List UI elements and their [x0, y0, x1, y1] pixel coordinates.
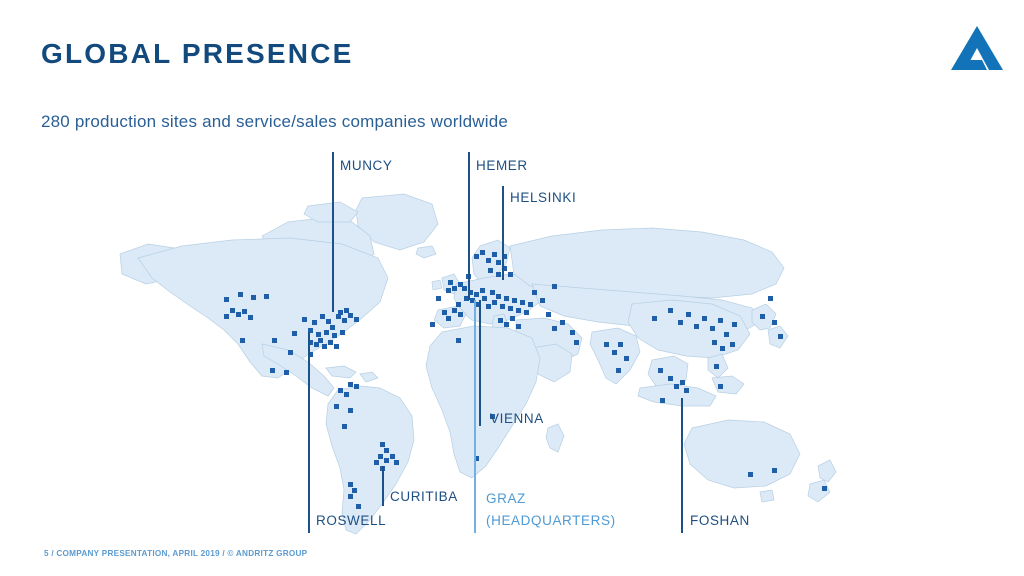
callout-label-helsinki: HELSINKI — [510, 190, 576, 205]
callout-label-foshan: FOSHAN — [690, 513, 750, 528]
world-map: .land { fill:#dbeaf6; stroke:#b7cfe3; st… — [112, 192, 864, 540]
map-landmasses — [120, 194, 836, 534]
callout-label-graz: GRAZ — [486, 491, 526, 506]
callout-label-hemer: HEMER — [476, 158, 528, 173]
slide-global-presence: GLOBAL PRESENCE 280 production sites and… — [0, 0, 1024, 576]
callout-line-graz — [474, 300, 476, 533]
callout-line-curitiba — [382, 466, 384, 506]
callout-line-muncy — [332, 152, 334, 312]
callout-label-curitiba: CURITIBA — [390, 489, 458, 504]
callout-line-vienna — [479, 300, 481, 426]
world-map-svg: .land { fill:#dbeaf6; stroke:#b7cfe3; st… — [112, 192, 864, 540]
slide-subtitle: 280 production sites and service/sales c… — [41, 112, 508, 132]
slide-footer: 5 / COMPANY PRESENTATION, APRIL 2019 / ©… — [44, 549, 307, 558]
callout-line-foshan — [681, 398, 683, 533]
callout-line-helsinki — [502, 186, 504, 280]
callout-line-hemer — [468, 152, 470, 300]
callout-label-headquarters: (HEADQUARTERS) — [486, 513, 616, 528]
callout-line-roswell — [308, 332, 310, 533]
callout-label-vienna: VIENNA — [490, 411, 544, 426]
andritz-logo-icon — [948, 22, 1006, 74]
callout-label-roswell: ROSWELL — [316, 513, 386, 528]
callout-label-muncy: MUNCY — [340, 158, 393, 173]
page-title: GLOBAL PRESENCE — [41, 38, 354, 70]
